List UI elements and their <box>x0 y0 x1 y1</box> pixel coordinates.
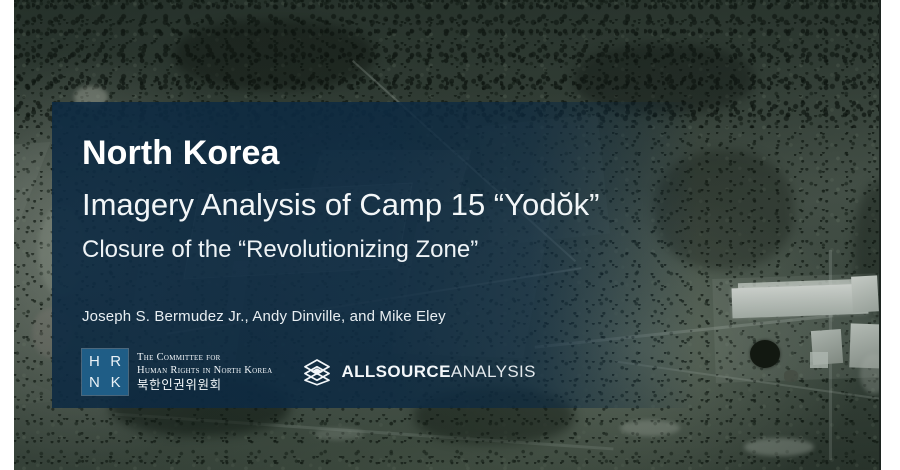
terrain-highlight <box>620 420 680 436</box>
title-overlay-panel: North Korea Imagery Analysis of Camp 15 … <box>52 102 698 408</box>
hrnk-line-3-korean: 북한인권위원회 <box>137 378 272 394</box>
page-subtitle-2: Closure of the “Revolutionizing Zone” <box>82 236 698 264</box>
allsource-analysis-logo: ALLSOURCE ANALYSIS <box>302 357 535 387</box>
hrnk-letter-h: H <box>85 352 104 371</box>
circular-feature <box>750 340 780 368</box>
terrain-highlight <box>860 354 881 394</box>
hrnk-wordmark: The Committee for Human Rights in North … <box>137 351 272 394</box>
terrain-highlight <box>314 428 364 440</box>
page-subtitle: Imagery Analysis of Camp 15 “Yodŏk” <box>82 188 698 223</box>
slide-frame: North Korea Imagery Analysis of Camp 15 … <box>0 0 900 470</box>
page-title: North Korea <box>82 136 698 172</box>
stacked-hexagon-layers-icon <box>302 357 332 387</box>
building <box>784 370 798 382</box>
hrnk-letter-r: R <box>106 352 125 371</box>
authors-line: Joseph S. Bermudez Jr., Andy Dinville, a… <box>82 308 698 325</box>
hrnk-letter-k: K <box>106 373 125 392</box>
hrnk-logo: H R N K The Committee for Human Rights i… <box>82 349 272 395</box>
terrain-shadow <box>174 20 374 90</box>
long-building <box>732 284 869 319</box>
hrnk-mark-icon: H R N K <box>82 349 128 395</box>
hrnk-line-1: The Committee for <box>137 351 272 364</box>
logo-row: H R N K The Committee for Human Rights i… <box>82 349 698 395</box>
allsource-name-bold: ALLSOURCE <box>341 362 450 382</box>
allsource-wordmark: ALLSOURCE ANALYSIS <box>341 362 535 382</box>
hrnk-letter-n: N <box>85 373 104 392</box>
allsource-name-light: ANALYSIS <box>451 362 536 382</box>
terrain-highlight <box>744 438 814 456</box>
building <box>851 275 879 312</box>
hrnk-line-2: Human Rights in North Korea <box>137 364 272 377</box>
building <box>810 352 828 368</box>
